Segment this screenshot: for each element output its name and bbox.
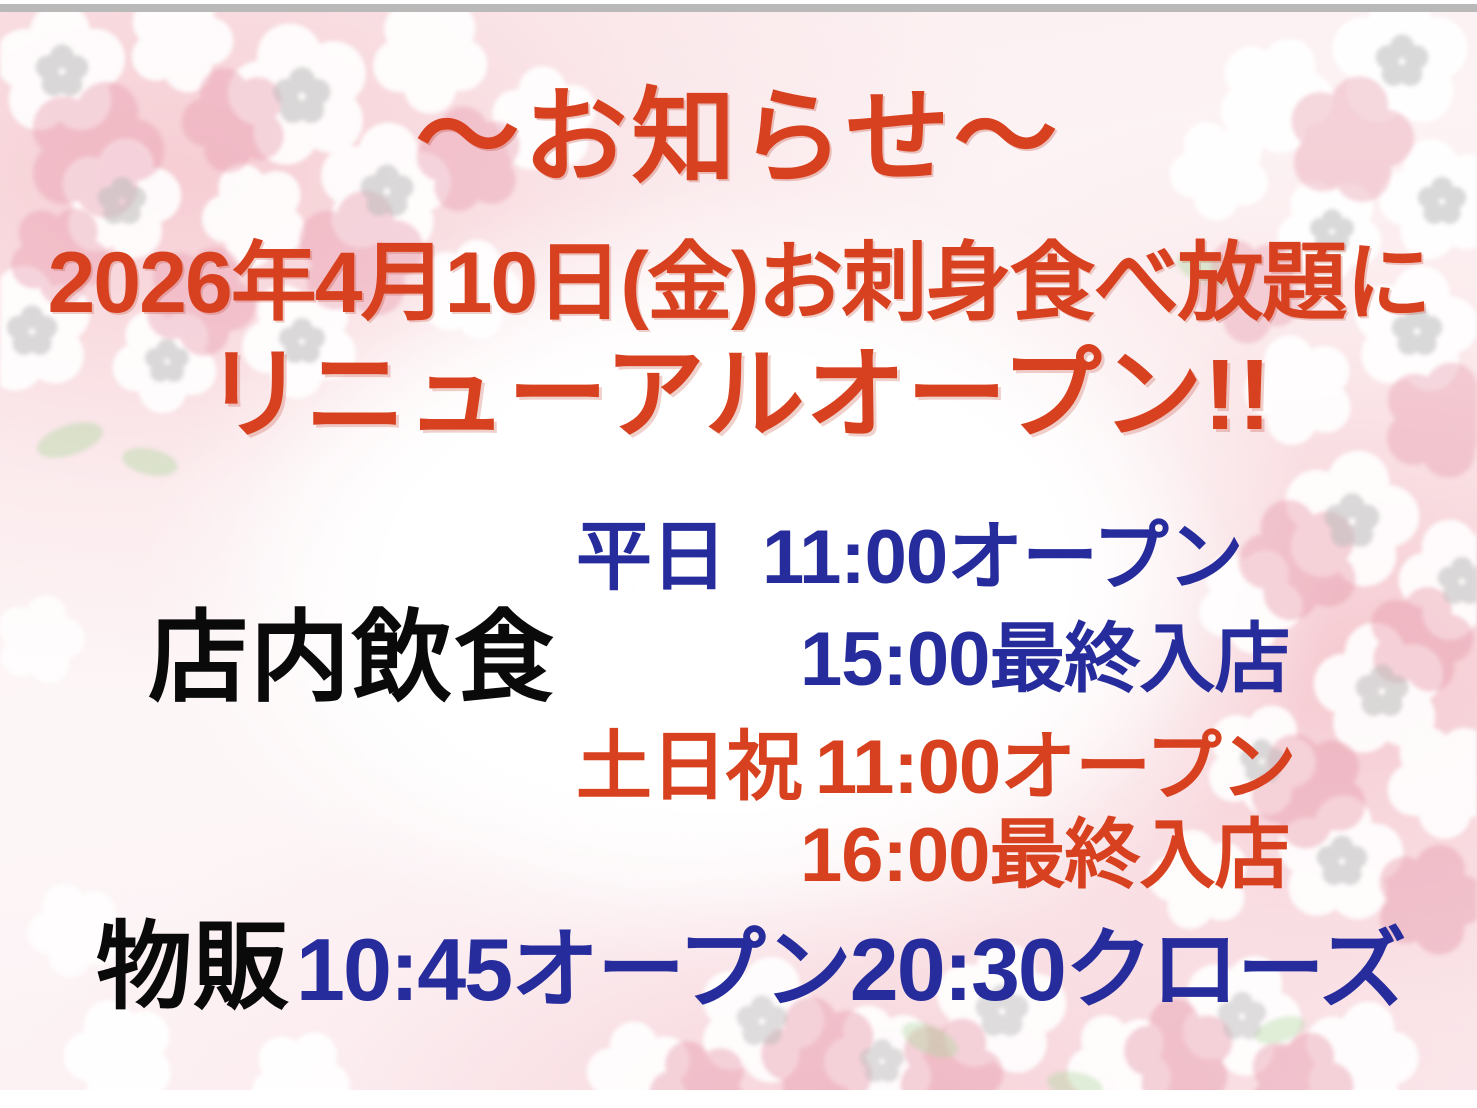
announcement-poster: ～お知らせ～ 2026年4月10日(金)お刺身食べ放題に リニューアルオープン!… [0,0,1477,1108]
reopen-date-line: 2026年4月10日(金)お刺身食べ放題に [0,240,1477,326]
weekend-tag: 土日祝 [576,725,801,810]
retail-hours-row: 物販 10:45オープン20:30クローズ [96,920,1404,1016]
renewal-open-line: リニューアルオープン!! [0,345,1477,445]
weekday-open-row: 平日11:00オープン [576,520,1243,596]
dine-in-label: 店内飲食 [148,608,556,708]
poster-content: ～お知らせ～ 2026年4月10日(金)お刺身食べ放題に リニューアルオープン!… [0,0,1477,1108]
weekend-open-time: 11:00オープン [815,725,1296,810]
weekday-last-entry: 15:00最終入店 [800,622,1289,698]
weekend-open-row: 土日祝11:00オープン [576,730,1296,806]
retail-hours: 10:45オープン20:30クローズ [296,926,1404,1014]
retail-label: 物販 [96,920,290,1016]
announcement-title: ～お知らせ～ [0,86,1477,190]
weekend-last-entry: 16:00最終入店 [800,818,1289,894]
weekday-open-time: 11:00オープン [762,515,1243,600]
weekday-tag: 平日 [576,515,726,600]
